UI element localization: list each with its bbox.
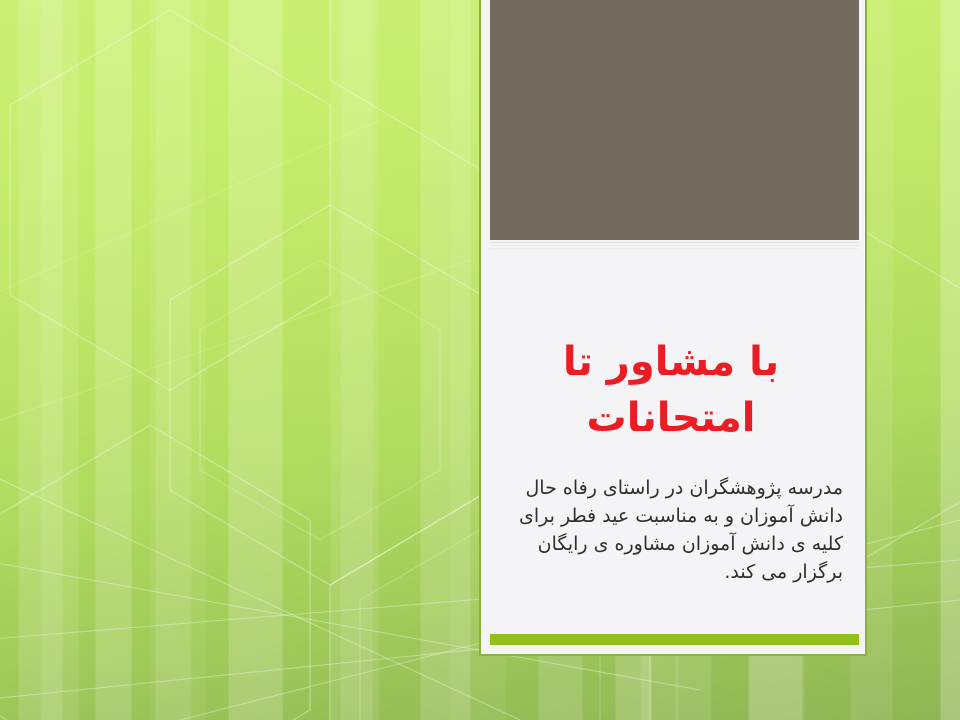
headline-line-2: امتحانات: [491, 390, 851, 446]
slide-canvas: با مشاور تا امتحانات مدرسه پژوهشگران در …: [0, 0, 960, 720]
slide-headline: با مشاور تا امتحانات: [491, 334, 851, 446]
bottom-accent-bar: [490, 634, 859, 645]
card-inner: با مشاور تا امتحانات مدرسه پژوهشگران در …: [481, 0, 865, 654]
content-card: با مشاور تا امتحانات مدرسه پژوهشگران در …: [479, 0, 867, 656]
headline-line-1: با مشاور تا: [563, 339, 779, 385]
divider-line: [490, 242, 859, 243]
image-placeholder: [490, 0, 859, 240]
photo-divider: [490, 242, 859, 251]
divider-line: [490, 245, 859, 246]
slide-body-text: مدرسه پژوهشگران در راستای رفاه حال دانش …: [495, 474, 843, 586]
divider-line: [490, 248, 859, 249]
